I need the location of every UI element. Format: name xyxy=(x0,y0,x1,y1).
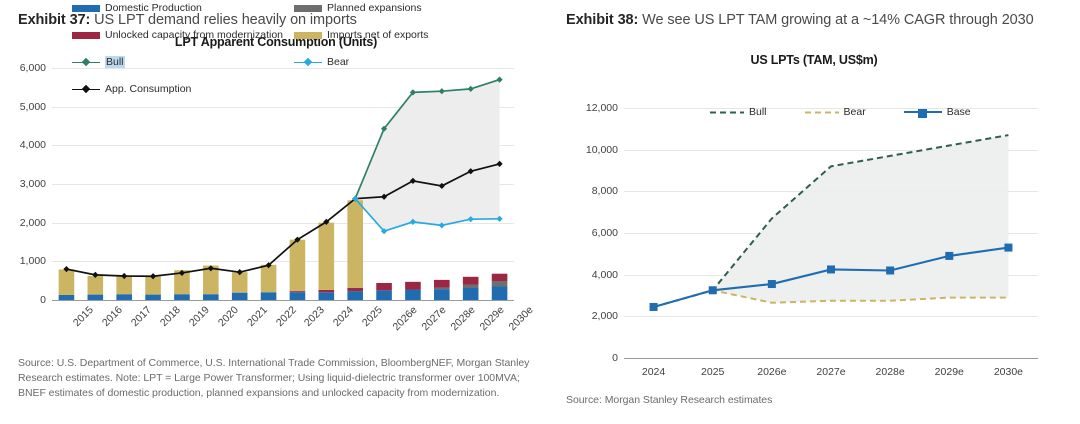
legend-label-base: Base xyxy=(947,106,971,118)
bar-segment xyxy=(405,282,421,290)
legend-item-bull[interactable]: Bull xyxy=(72,56,294,68)
legend-label-bull: Bull xyxy=(105,56,125,68)
y-axis-tick-label: 5,000 xyxy=(20,101,46,113)
legend-swatch-imports-net-of-exports xyxy=(294,32,322,39)
x-axis-tick-label: 2017 xyxy=(129,304,154,329)
bar-segment xyxy=(59,269,75,295)
right-chart-legend: Bull Bear Base xyxy=(710,106,971,118)
bar-segment xyxy=(376,283,392,290)
left-chart-x-ticks: 2015201620172018201920202021202220232024… xyxy=(52,300,514,346)
bar-segment xyxy=(434,280,450,288)
bar-segment xyxy=(405,290,421,300)
left-chart-plot: 01,0002,0003,0004,0005,0006,000 xyxy=(52,68,514,300)
bar-segment xyxy=(492,286,508,300)
data-point-marker xyxy=(768,280,776,288)
bar-segment xyxy=(463,285,479,288)
y-axis-tick-label: 2,000 xyxy=(20,217,46,229)
y-axis-tick-label: 10,000 xyxy=(586,144,618,156)
bar-segment xyxy=(347,200,363,288)
right-chart-plot: 02,0004,0006,0008,00010,00012,000 xyxy=(624,108,1038,358)
data-point-marker xyxy=(1004,244,1012,252)
bar-segment xyxy=(347,288,363,291)
y-axis-tick-label: 8,000 xyxy=(592,185,618,197)
left-chart-source: Source: U.S. Department of Commerce, U.S… xyxy=(18,356,530,401)
bar-segment xyxy=(434,289,450,300)
legend-swatch-unlocked-capacity xyxy=(72,32,100,39)
legend-item-planned-expansions[interactable]: Planned expansions xyxy=(294,2,504,14)
exhibit-37-panel: Exhibit 37: US LPT demand relies heavily… xyxy=(0,0,548,424)
legend-marker-bull xyxy=(710,108,744,117)
legend-item-imports-net-of-exports[interactable]: Imports net of exports xyxy=(294,29,504,41)
legend-item-app-consumption[interactable]: App. Consumption xyxy=(72,83,294,95)
legend-marker-bear xyxy=(805,108,839,117)
data-point-marker xyxy=(827,265,835,273)
right-chart-title: US LPTs (TAM, US$m) xyxy=(566,53,1062,67)
exhibit-page: Exhibit 37: US LPT demand relies heavily… xyxy=(0,0,1080,424)
legend-label-bull: Bull xyxy=(749,106,767,118)
legend-item-domestic-production[interactable]: Domestic Production xyxy=(72,2,294,14)
bar-segment xyxy=(261,265,277,292)
legend-label-planned-expansions: Planned expansions xyxy=(327,2,422,14)
left-chart-canvas xyxy=(52,68,514,300)
x-axis-tick-label: 2028e xyxy=(448,304,477,333)
legend-marker-bear xyxy=(294,58,322,67)
bar-segment xyxy=(88,276,104,295)
legend-marker-app-consumption xyxy=(72,85,100,94)
bar-segment xyxy=(290,291,306,292)
y-axis-tick-label: 0 xyxy=(612,352,618,364)
x-axis-tick-label: 2029e xyxy=(477,304,506,333)
left-chart-legend: Domestic Production Planned expansions U… xyxy=(72,2,504,95)
legend-item-base[interactable]: Base xyxy=(904,106,971,118)
x-axis-tick-label: 2024 xyxy=(331,304,356,329)
x-axis-tick-label: 2023 xyxy=(302,304,327,329)
legend-item-bull[interactable]: Bull xyxy=(710,106,767,118)
x-axis-tick-label: 2028e xyxy=(876,366,905,378)
bull-bear-range-band xyxy=(355,80,499,232)
legend-label-app-consumption: App. Consumption xyxy=(105,83,191,95)
bar-segment xyxy=(492,274,508,281)
y-axis-tick-label: 2,000 xyxy=(592,310,618,322)
y-axis-tick-label: 6,000 xyxy=(592,227,618,239)
x-axis-tick-label: 2030e xyxy=(506,304,535,333)
legend-item-bear[interactable]: Bear xyxy=(805,106,866,118)
data-point-marker xyxy=(709,286,717,294)
legend-label-bear: Bear xyxy=(327,56,349,68)
exhibit-38-panel: Exhibit 38: We see US LPT TAM growing at… xyxy=(548,0,1080,424)
y-axis-tick-label: 0 xyxy=(40,294,46,306)
bar-segment xyxy=(492,281,508,286)
legend-marker-bull xyxy=(72,58,100,67)
right-chart-canvas xyxy=(624,108,1038,358)
x-axis-tick-label: 2030e xyxy=(994,366,1023,378)
legend-marker-base xyxy=(904,108,942,117)
legend-label-bear: Bear xyxy=(844,106,866,118)
x-axis-tick-label: 2024 xyxy=(642,366,665,378)
x-axis-tick-label: 2022 xyxy=(273,304,298,329)
x-axis-tick-label: 2018 xyxy=(158,304,183,329)
exhibit-38-headline: We see US LPT TAM growing at a ~14% CAGR… xyxy=(642,12,1033,28)
data-point-marker xyxy=(886,267,894,275)
x-axis-tick-label: 2015 xyxy=(71,304,96,329)
data-point-marker xyxy=(650,303,658,311)
x-axis-tick-label: 2026e xyxy=(757,366,786,378)
bar-segment xyxy=(319,290,335,292)
y-axis-tick-label: 3,000 xyxy=(20,178,46,190)
legend-label-unlocked-capacity: Unlocked capacity from modernization xyxy=(105,29,283,41)
y-axis-tick-label: 1,000 xyxy=(20,255,46,267)
legend-item-unlocked-capacity[interactable]: Unlocked capacity from modernization xyxy=(72,29,294,41)
x-axis-tick-label: 2016 xyxy=(100,304,125,329)
x-axis-tick-label: 2026e xyxy=(391,304,420,333)
y-axis-tick-label: 12,000 xyxy=(586,102,618,114)
x-axis-tick-label: 2020 xyxy=(216,304,241,329)
x-axis-tick-label: 2027e xyxy=(816,366,845,378)
right-chart-x-ticks: 202420252026e2027e2028e2029e2030e xyxy=(624,362,1038,382)
y-axis-tick-label: 4,000 xyxy=(20,139,46,151)
x-axis-tick-label: 2021 xyxy=(245,304,270,329)
x-axis-tick-label: 2025 xyxy=(360,304,385,329)
legend-item-bear[interactable]: Bear xyxy=(294,56,504,68)
data-point-marker xyxy=(945,252,953,260)
legend-label-domestic-production: Domestic Production xyxy=(105,2,202,14)
legend-swatch-domestic-production xyxy=(72,5,100,12)
x-axis-tick-label: 2029e xyxy=(935,366,964,378)
x-axis-tick-label: 2027e xyxy=(419,304,448,333)
exhibit-38-title: Exhibit 38: We see US LPT TAM growing at… xyxy=(566,10,1062,31)
legend-label-imports-net-of-exports: Imports net of exports xyxy=(327,29,429,41)
bar-segment xyxy=(463,288,479,300)
exhibit-38-label: Exhibit 38: xyxy=(566,12,638,28)
y-axis-tick-label: 4,000 xyxy=(592,269,618,281)
bar-segment xyxy=(434,288,450,290)
bar-segment xyxy=(319,223,335,290)
x-axis-tick-label: 2019 xyxy=(187,304,212,329)
y-axis-tick-label: 6,000 xyxy=(20,62,46,74)
bar-segment xyxy=(463,277,479,285)
legend-swatch-planned-expansions xyxy=(294,5,322,12)
right-chart-source: Source: Morgan Stanley Research estimate… xyxy=(566,393,1026,408)
bar-segment xyxy=(290,240,306,291)
x-axis-tick-label: 2025 xyxy=(701,366,724,378)
right-chart-x-axis xyxy=(624,358,1038,360)
